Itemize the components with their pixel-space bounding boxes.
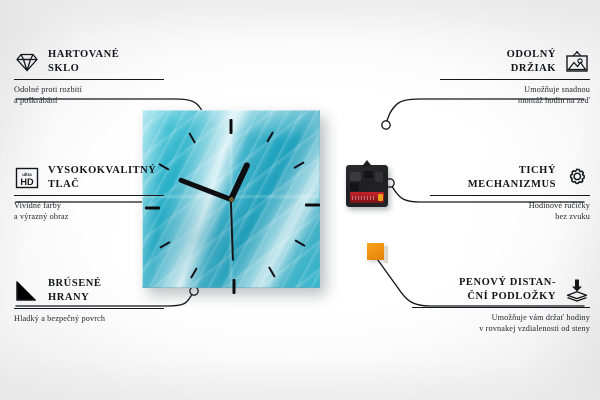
glass-wall-clock (142, 110, 320, 288)
marker-durable-hanger (382, 121, 390, 129)
clock-mechanism (346, 165, 388, 207)
feature-title-line2: DRŽIAK (507, 62, 556, 76)
gear-icon (564, 166, 590, 190)
feature-foam-spacers: PENOVÝ DISTAN- ČNÍ PODLOŽKY Umožňuje vám… (412, 276, 590, 335)
feature-title-line1: BRÚSENÉ (48, 277, 101, 291)
feature-divider (440, 79, 590, 80)
mechanism-battery (350, 192, 384, 203)
feature-title-line2: TLAČ (48, 178, 156, 192)
feature-desc-line1: Hodinové ručičky (430, 200, 590, 212)
feature-title-line2: ČNÍ PODLOŽKY (459, 290, 556, 304)
feature-desc-line1: Umožňuje snadnou (440, 84, 590, 96)
beveled-edge-icon (14, 279, 40, 303)
feature-desc-line1: Umožňuje vám držať hodiny (412, 312, 590, 324)
foam-spacer-pad (367, 243, 384, 260)
ultra-hd-icon: ultra HD (14, 166, 40, 190)
feature-desc-line2: montáž hodin na zeď (440, 95, 590, 107)
feature-high-quality-print: ultra HD VYSOKOKVALITNÝ TLAČ Vividné far… (14, 164, 164, 223)
feature-desc-line2: a poškrábání (14, 95, 164, 107)
product-infographic: HARTOVANÉ SKLO Odolné proti rozbití a po… (0, 0, 600, 400)
feature-durable-hanger: ODOLNÝ DRŽIAK Umožňuje snadnou montáž ho… (440, 48, 590, 107)
feature-divider (14, 79, 164, 80)
press-stack-icon (564, 278, 590, 302)
feature-desc-line1: Vividné farby (14, 200, 164, 212)
feature-polished-edges: BRÚSENÉ HRANY Hladký a bezpečný povrch (14, 277, 164, 324)
feature-title-line2: HRANY (48, 291, 101, 305)
feature-divider (14, 195, 164, 196)
feature-title-line1: ODOLNÝ (507, 48, 556, 62)
feature-title-line1: TICHÝ (468, 164, 556, 178)
feature-title-line2: MECHANIZMUS (468, 178, 556, 192)
feature-title-line1: PENOVÝ DISTAN- (459, 276, 556, 290)
feature-desc-line2: v rovnakej vzdialenosti od steny (412, 323, 590, 335)
feature-desc-line2: bez zvuku (430, 211, 590, 223)
feature-title-line2: SKLO (48, 62, 119, 76)
feature-tempered-glass: HARTOVANÉ SKLO Odolné proti rozbití a po… (14, 48, 164, 107)
marker-polished-edges (190, 287, 198, 295)
feature-desc-line1: Hladký a bezpečný povrch (14, 313, 164, 325)
feature-silent-mechanism: TICHÝ MECHANIZMUS Hodinové ručičky bez z… (430, 164, 590, 223)
picture-hanger-icon (564, 50, 590, 74)
feature-divider (14, 308, 164, 309)
feature-title-line1: HARTOVANÉ (48, 48, 119, 62)
clock-center-pin (229, 197, 234, 202)
feature-divider (430, 195, 590, 196)
diamond-icon (14, 50, 40, 74)
feature-desc-line2: a výrazný obraz (14, 211, 164, 223)
feature-divider (412, 307, 590, 308)
feature-desc-line1: Odolné proti rozbití (14, 84, 164, 96)
svg-text:HD: HD (20, 177, 34, 187)
feature-title-line1: VYSOKOKVALITNÝ (48, 164, 156, 178)
